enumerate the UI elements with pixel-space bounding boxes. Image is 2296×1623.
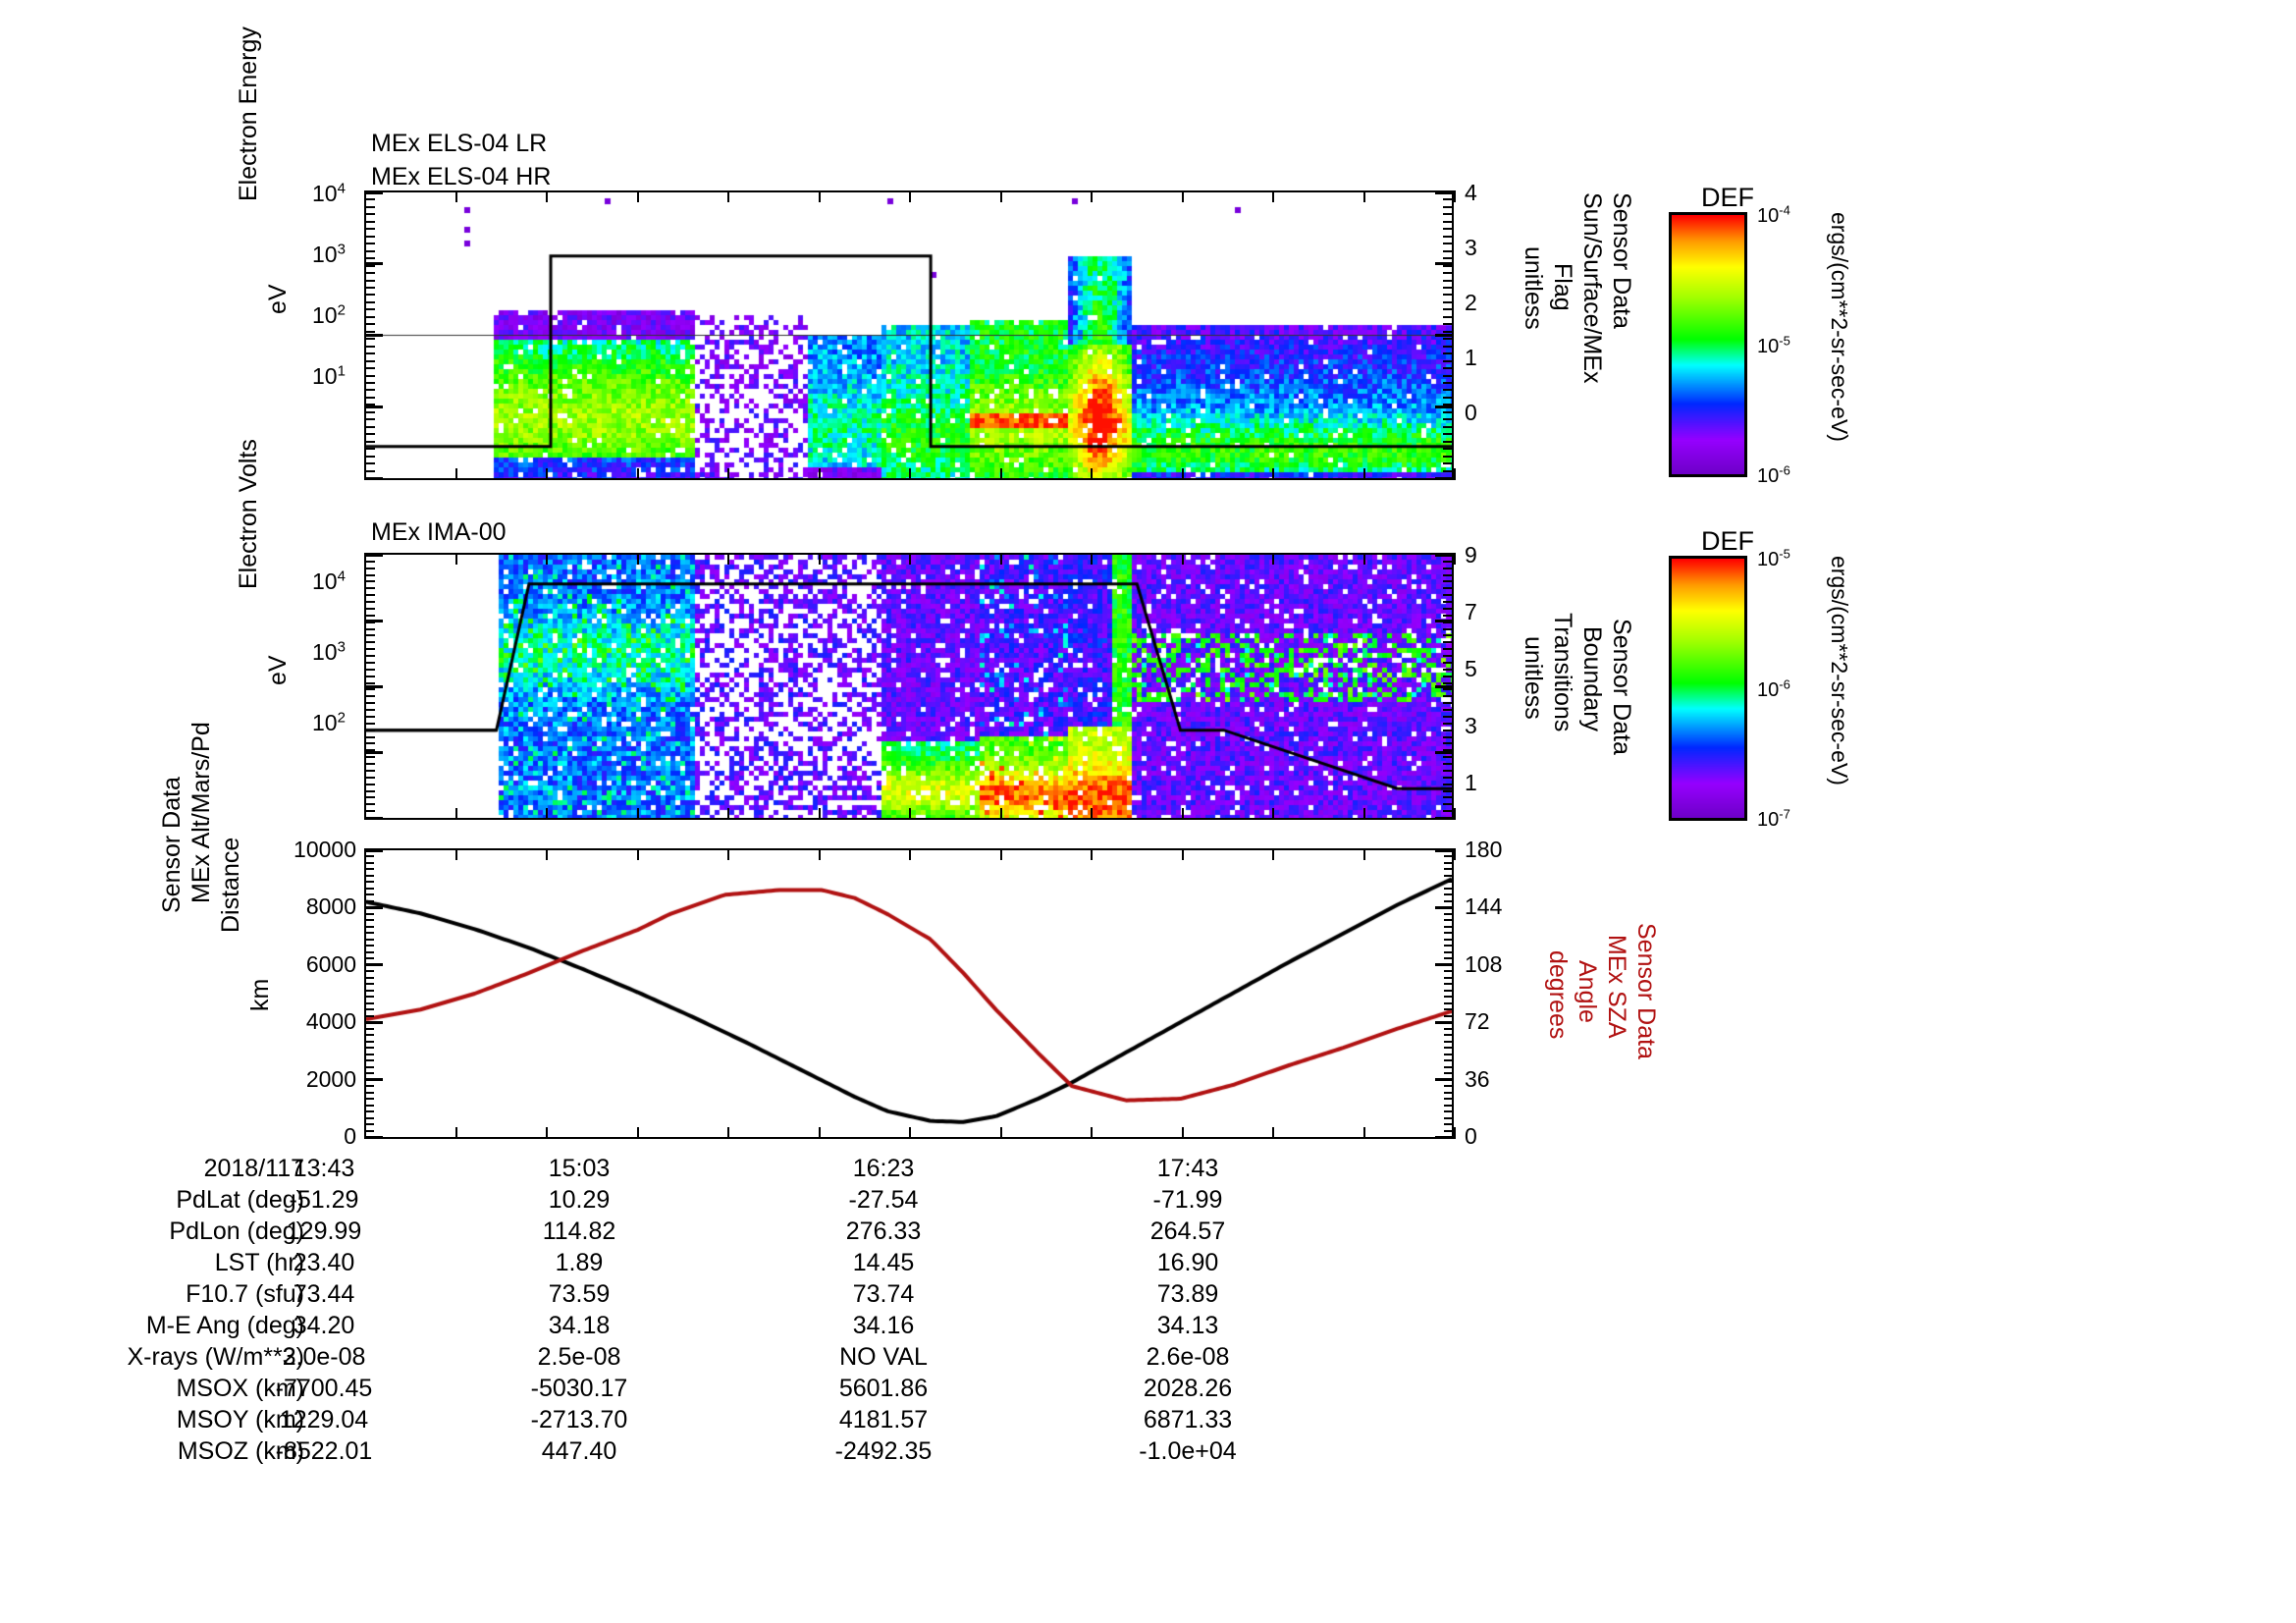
axis-minor-tick xyxy=(366,983,374,985)
panel3-rtick-180: 180 xyxy=(1465,837,1502,863)
axis-minor-tick xyxy=(366,784,375,785)
panel2-ylabel-line1: Electron Volts xyxy=(235,439,263,589)
info-row-value: 1229.04 xyxy=(236,1406,412,1434)
info-row-value: 73.59 xyxy=(491,1280,667,1309)
axis-tick xyxy=(727,808,729,820)
axis-minor-tick xyxy=(1444,1028,1452,1030)
info-row-value: 4181.57 xyxy=(795,1406,972,1434)
colorbar1-bot-label: 10-6 xyxy=(1757,462,1790,488)
axis-major-tick xyxy=(366,817,383,820)
info-row-value: 13:43 xyxy=(236,1155,412,1183)
colorbar2-mid-label: 10-6 xyxy=(1757,676,1790,702)
axis-tick xyxy=(1363,553,1365,565)
axis-minor-tick xyxy=(1443,810,1452,812)
panel2-rlabel-line2: Boundary xyxy=(1577,626,1606,731)
info-row-value: 10.29 xyxy=(491,1186,667,1215)
axis-major-tick xyxy=(366,963,383,966)
info-row-value: 23.40 xyxy=(236,1249,412,1277)
axis-minor-tick xyxy=(1443,574,1452,576)
panel2-rtick-1: 1 xyxy=(1465,770,1477,796)
axis-minor-tick xyxy=(1444,855,1452,857)
axis-minor-tick xyxy=(1444,1047,1452,1049)
info-row-value: 15:03 xyxy=(491,1155,667,1183)
axis-minor-tick xyxy=(1444,900,1452,902)
axis-tick xyxy=(819,1127,821,1139)
colorbar2-units-text: ergs/(cm**2-sr-sec-eV) xyxy=(1826,556,1852,785)
info-row-value: -71.99 xyxy=(1099,1186,1276,1215)
axis-tick xyxy=(455,468,457,480)
info-row-value: 34.20 xyxy=(236,1312,412,1340)
info-row-value: -8522.01 xyxy=(236,1437,412,1466)
panel2-right-label: Sensor Data Boundary Transitions unitles… xyxy=(1517,589,1634,864)
axis-minor-tick xyxy=(366,580,375,582)
panel1-rtick-3: 3 xyxy=(1465,235,1477,261)
axis-tick xyxy=(727,848,729,860)
axis-tick xyxy=(1454,553,1456,565)
panel3-rtick-36: 36 xyxy=(1465,1066,1490,1093)
info-row-value: -2492.35 xyxy=(795,1437,972,1466)
axis-minor-tick xyxy=(1443,580,1452,582)
axis-minor-tick xyxy=(366,411,375,413)
axis-minor-tick xyxy=(1444,1002,1452,1004)
axis-major-tick xyxy=(1435,963,1452,966)
info-row-value: -1.0e+04 xyxy=(1099,1437,1276,1466)
info-row-value: -2713.70 xyxy=(491,1406,667,1434)
axis-tick xyxy=(819,808,821,820)
panel3-ltick-4000: 4000 xyxy=(306,1008,356,1035)
axis-tick xyxy=(909,190,911,202)
axis-minor-tick xyxy=(366,301,375,303)
axis-minor-tick xyxy=(1443,198,1452,200)
axis-minor-tick xyxy=(366,594,375,596)
panel2-ylabel-line2: eV xyxy=(264,655,293,685)
axis-major-tick xyxy=(1435,1021,1452,1024)
axis-minor-tick xyxy=(1444,881,1452,883)
axis-minor-tick xyxy=(366,777,375,779)
axis-tick xyxy=(1000,553,1002,565)
axis-tick xyxy=(1182,848,1184,860)
axis-minor-tick xyxy=(366,926,374,928)
axis-minor-tick xyxy=(1443,367,1452,369)
panel1-ylabel-line2: eV xyxy=(264,284,293,314)
axis-minor-tick xyxy=(1443,688,1452,690)
info-row-value: 3.0e-08 xyxy=(236,1343,412,1372)
axis-minor-tick xyxy=(1443,272,1452,274)
axis-minor-tick xyxy=(1444,862,1452,864)
axis-minor-tick xyxy=(366,763,375,765)
axis-minor-tick xyxy=(366,426,375,428)
axis-minor-tick xyxy=(1443,228,1452,230)
panel3-lines xyxy=(366,850,1452,1137)
colorbar2-bot-label: 10-7 xyxy=(1757,806,1790,832)
axis-minor-tick xyxy=(1443,418,1452,420)
panel2-ytick-10e4: 104 xyxy=(312,568,346,595)
axis-tick xyxy=(1091,848,1093,860)
axis-minor-tick xyxy=(1443,662,1452,664)
axis-minor-tick xyxy=(366,418,375,420)
axis-minor-tick xyxy=(366,634,375,636)
axis-tick xyxy=(1091,553,1093,565)
axis-minor-tick xyxy=(1443,568,1452,569)
axis-minor-tick xyxy=(1444,1085,1452,1087)
axis-minor-tick xyxy=(1444,983,1452,985)
axis-minor-tick xyxy=(1443,456,1452,458)
axis-minor-tick xyxy=(366,561,375,563)
axis-minor-tick xyxy=(1443,338,1452,340)
axis-major-tick xyxy=(366,685,383,688)
axis-minor-tick xyxy=(366,221,375,223)
axis-tick xyxy=(1000,808,1002,820)
axis-minor-tick xyxy=(366,250,375,252)
colorbar2-gradient xyxy=(1672,559,1744,818)
info-row-value: 5601.86 xyxy=(795,1375,972,1403)
axis-minor-tick xyxy=(1443,669,1452,671)
axis-minor-tick xyxy=(1443,601,1452,603)
panel2-rtick-5: 5 xyxy=(1465,656,1477,682)
panel3-ylabel-line4: km xyxy=(246,979,275,1011)
axis-major-tick xyxy=(1435,262,1452,265)
info-row-value: 34.13 xyxy=(1099,1312,1276,1340)
panel1-ytick-10e2: 102 xyxy=(312,301,346,329)
axis-minor-tick xyxy=(1443,250,1452,252)
axis-tick xyxy=(1363,468,1365,480)
axis-tick xyxy=(727,468,729,480)
axis-minor-tick xyxy=(1443,723,1452,725)
axis-minor-tick xyxy=(366,919,374,921)
axis-tick xyxy=(637,1127,639,1139)
panel3-ltick-6000: 6000 xyxy=(306,951,356,978)
axis-minor-tick xyxy=(366,810,375,812)
panel1-ytick-10e4: 104 xyxy=(312,180,346,207)
panel3-ylabel-line1: Sensor Data xyxy=(158,777,187,913)
axis-minor-tick xyxy=(1444,932,1452,934)
panel2-plot[interactable] xyxy=(364,553,1454,820)
axis-minor-tick xyxy=(366,1117,374,1119)
axis-minor-tick xyxy=(366,648,375,650)
panel2-ytick-10e3: 103 xyxy=(312,638,346,666)
axis-major-tick xyxy=(1435,685,1452,688)
colorbar1-mid-label: 10-5 xyxy=(1757,333,1790,358)
axis-major-tick xyxy=(1435,1078,1452,1081)
info-row-value: -7700.45 xyxy=(236,1375,412,1403)
panel3-ltick-10000: 10000 xyxy=(294,837,356,863)
axis-minor-tick xyxy=(1443,716,1452,718)
axis-minor-tick xyxy=(366,375,375,377)
axis-minor-tick xyxy=(1443,375,1452,377)
axis-minor-tick xyxy=(1443,206,1452,208)
axis-minor-tick xyxy=(366,1098,374,1100)
axis-minor-tick xyxy=(366,709,375,711)
panel1-plot[interactable] xyxy=(364,190,1454,480)
axis-minor-tick xyxy=(1443,426,1452,428)
axis-minor-tick xyxy=(1443,770,1452,772)
axis-minor-tick xyxy=(1443,803,1452,805)
panel1-rtick-2: 2 xyxy=(1465,290,1477,316)
axis-minor-tick xyxy=(1444,1034,1452,1036)
axis-minor-tick xyxy=(1443,243,1452,244)
axis-minor-tick xyxy=(366,1123,374,1125)
axis-minor-tick xyxy=(1443,561,1452,563)
axis-minor-tick xyxy=(366,770,375,772)
info-row-value: 73.74 xyxy=(795,1280,972,1309)
axis-minor-tick xyxy=(366,360,375,362)
panel1-rlabel-line1: Sensor Data xyxy=(1607,192,1635,329)
axis-tick xyxy=(727,553,729,565)
axis-tick xyxy=(637,190,639,202)
axis-minor-tick xyxy=(366,662,375,664)
axis-minor-tick xyxy=(366,316,375,318)
axis-minor-tick xyxy=(366,287,375,289)
axis-minor-tick xyxy=(1444,939,1452,941)
axis-tick xyxy=(637,553,639,565)
axis-tick xyxy=(727,1127,729,1139)
axis-minor-tick xyxy=(1443,784,1452,785)
panel3-right-label: Sensor Data MEx SZA Angle degrees xyxy=(1541,913,1669,1188)
axis-minor-tick xyxy=(1443,308,1452,310)
axis-minor-tick xyxy=(1444,893,1452,895)
axis-minor-tick xyxy=(366,574,375,576)
axis-minor-tick xyxy=(366,441,375,443)
axis-tick xyxy=(909,808,911,820)
axis-minor-tick xyxy=(366,1072,374,1074)
info-row-value: 17:43 xyxy=(1099,1155,1276,1183)
axis-minor-tick xyxy=(1444,1105,1452,1107)
axis-tick xyxy=(1363,808,1365,820)
panel1-title-lr: MEx ELS-04 LR xyxy=(371,130,547,158)
axis-tick xyxy=(819,848,821,860)
axis-tick xyxy=(637,848,639,860)
axis-minor-tick xyxy=(1444,1072,1452,1074)
axis-minor-tick xyxy=(366,294,375,296)
axis-minor-tick xyxy=(366,1130,374,1132)
axis-minor-tick xyxy=(1443,790,1452,792)
axis-minor-tick xyxy=(1443,352,1452,354)
info-row-value: 2028.26 xyxy=(1099,1375,1276,1403)
axis-minor-tick xyxy=(1443,331,1452,333)
info-row-value: -27.54 xyxy=(795,1186,972,1215)
panel1-ytick-10e3: 103 xyxy=(312,241,346,268)
axis-tick xyxy=(909,553,911,565)
axis-minor-tick xyxy=(366,323,375,325)
info-row-value: 114.82 xyxy=(491,1217,667,1246)
axis-major-tick xyxy=(1435,906,1452,909)
axis-minor-tick xyxy=(366,601,375,603)
axis-tick xyxy=(819,468,821,480)
info-row-value: 6871.33 xyxy=(1099,1406,1276,1434)
axis-minor-tick xyxy=(366,970,374,972)
axis-minor-tick xyxy=(1444,1008,1452,1010)
panel2-rtick-9: 9 xyxy=(1465,542,1477,568)
axis-minor-tick xyxy=(1443,777,1452,779)
axis-minor-tick xyxy=(1444,990,1452,992)
axis-tick xyxy=(1000,1127,1002,1139)
axis-minor-tick xyxy=(366,742,375,744)
axis-minor-tick xyxy=(1444,868,1452,870)
axis-tick xyxy=(1091,808,1093,820)
axis-tick xyxy=(1091,190,1093,202)
axis-major-tick xyxy=(366,406,383,408)
axis-minor-tick xyxy=(1443,397,1452,399)
axis-major-tick xyxy=(1435,334,1452,337)
axis-minor-tick xyxy=(366,939,374,941)
axis-minor-tick xyxy=(1444,919,1452,921)
panel2-rlabel-line1: Sensor Data xyxy=(1607,619,1635,755)
panel2-rtick-7: 7 xyxy=(1465,599,1477,625)
axis-minor-tick xyxy=(1443,411,1452,413)
axis-minor-tick xyxy=(1444,913,1452,915)
panel2-rlabel-line3: Transitions xyxy=(1548,613,1576,731)
info-row-value: 73.89 xyxy=(1099,1280,1276,1309)
panel3-ylabel-line2: MEx Alt/Mars/Pd xyxy=(187,722,216,903)
axis-minor-tick xyxy=(1444,926,1452,928)
panel3-ltick-8000: 8000 xyxy=(306,893,356,920)
axis-tick xyxy=(455,1127,457,1139)
axis-major-tick xyxy=(1435,849,1452,852)
info-row-value: 129.99 xyxy=(236,1217,412,1246)
axis-minor-tick xyxy=(366,756,375,758)
axis-minor-tick xyxy=(366,1008,374,1010)
axis-minor-tick xyxy=(366,236,375,238)
axis-minor-tick xyxy=(1443,257,1452,259)
axis-tick xyxy=(1091,468,1093,480)
axis-minor-tick xyxy=(366,448,375,450)
axis-minor-tick xyxy=(366,331,375,333)
axis-minor-tick xyxy=(1443,742,1452,744)
axis-tick xyxy=(1182,1127,1184,1139)
axis-major-tick xyxy=(366,906,383,909)
axis-minor-tick xyxy=(366,1054,374,1055)
axis-minor-tick xyxy=(1443,433,1452,435)
axis-major-tick xyxy=(366,1136,383,1139)
axis-minor-tick xyxy=(1444,977,1452,979)
axis-minor-tick xyxy=(366,433,375,435)
axis-minor-tick xyxy=(1443,294,1452,296)
panel3-rtick-72: 72 xyxy=(1465,1008,1490,1035)
axis-minor-tick xyxy=(366,308,375,310)
axis-minor-tick xyxy=(1444,970,1452,972)
axis-tick xyxy=(909,1127,911,1139)
axis-tick xyxy=(1454,848,1456,860)
axis-minor-tick xyxy=(1443,470,1452,472)
axis-minor-tick xyxy=(366,272,375,274)
axis-minor-tick xyxy=(366,470,375,472)
axis-minor-tick xyxy=(366,198,375,200)
axis-tick xyxy=(546,468,548,480)
panel3-rtick-0: 0 xyxy=(1465,1123,1477,1150)
panel3-ylabel: Sensor Data MEx Alt/Mars/Pd Distance km xyxy=(187,903,314,1178)
axis-tick xyxy=(546,553,548,565)
axis-minor-tick xyxy=(366,803,375,805)
panel3-rlabel-line2: MEx SZA xyxy=(1602,935,1630,1039)
axis-minor-tick xyxy=(366,945,374,947)
axis-minor-tick xyxy=(1443,796,1452,798)
info-row-value: NO VAL xyxy=(795,1343,972,1372)
colorbar2-top-label: 10-5 xyxy=(1757,546,1790,571)
axis-major-tick xyxy=(1435,817,1452,820)
axis-major-tick xyxy=(366,334,383,337)
axis-major-tick xyxy=(1435,477,1452,480)
axis-tick xyxy=(1363,848,1365,860)
axis-minor-tick xyxy=(366,868,374,870)
panel3-plot[interactable] xyxy=(364,848,1454,1139)
info-row-value: -5030.17 xyxy=(491,1375,667,1403)
axis-tick xyxy=(1272,848,1274,860)
axis-minor-tick xyxy=(366,608,375,610)
axis-minor-tick xyxy=(1443,360,1452,362)
axis-minor-tick xyxy=(366,951,374,953)
axis-tick xyxy=(727,190,729,202)
axis-minor-tick xyxy=(366,913,374,915)
axis-tick xyxy=(1182,468,1184,480)
colorbar2 xyxy=(1669,556,1747,821)
axis-major-tick xyxy=(366,1078,383,1081)
axis-tick xyxy=(546,808,548,820)
panel3-ylabel-line3: Distance xyxy=(217,838,245,933)
axis-minor-tick xyxy=(366,893,374,895)
axis-minor-tick xyxy=(366,655,375,657)
panel1-ytick-10e1: 101 xyxy=(312,362,346,390)
axis-minor-tick xyxy=(366,796,375,798)
axis-minor-tick xyxy=(366,397,375,399)
axis-minor-tick xyxy=(1443,615,1452,617)
info-row-value: 34.18 xyxy=(491,1312,667,1340)
axis-minor-tick xyxy=(1444,1015,1452,1017)
axis-minor-tick xyxy=(1443,648,1452,650)
panel2-ytick-10e2: 102 xyxy=(312,709,346,736)
axis-minor-tick xyxy=(1444,888,1452,890)
axis-minor-tick xyxy=(366,676,375,677)
axis-minor-tick xyxy=(366,206,375,208)
axis-minor-tick xyxy=(366,1092,374,1094)
axis-tick xyxy=(637,468,639,480)
axis-minor-tick xyxy=(1443,763,1452,765)
axis-minor-tick xyxy=(366,862,374,864)
axis-minor-tick xyxy=(1444,1059,1452,1061)
axis-minor-tick xyxy=(366,888,374,890)
axis-major-tick xyxy=(1435,1136,1452,1139)
axis-tick xyxy=(1182,808,1184,820)
axis-tick xyxy=(455,553,457,565)
axis-minor-tick xyxy=(1443,702,1452,704)
axis-minor-tick xyxy=(366,1105,374,1107)
axis-minor-tick xyxy=(366,587,375,589)
panel1-rlabel-line2: Sun/Surface/MEx xyxy=(1577,192,1606,384)
colorbar1-units-text: ergs/(cm**2-sr-sec-eV) xyxy=(1826,212,1852,442)
axis-minor-tick xyxy=(1443,301,1452,303)
axis-tick xyxy=(546,190,548,202)
axis-minor-tick xyxy=(1443,236,1452,238)
axis-minor-tick xyxy=(366,1059,374,1061)
axis-minor-tick xyxy=(366,641,375,643)
axis-minor-tick xyxy=(1443,389,1452,391)
axis-tick xyxy=(455,808,457,820)
info-row-value: 264.57 xyxy=(1099,1217,1276,1246)
axis-major-tick xyxy=(1435,554,1452,557)
axis-minor-tick xyxy=(1444,951,1452,953)
info-row-value: 16.90 xyxy=(1099,1249,1276,1277)
axis-tick xyxy=(1000,848,1002,860)
axis-minor-tick xyxy=(366,243,375,244)
info-row-value: 2.5e-08 xyxy=(491,1343,667,1372)
axis-major-tick xyxy=(1435,620,1452,622)
axis-minor-tick xyxy=(366,669,375,671)
axis-minor-tick xyxy=(1443,221,1452,223)
axis-minor-tick xyxy=(366,682,375,684)
axis-minor-tick xyxy=(1443,736,1452,738)
panel1-rlabel-line3: Flag xyxy=(1548,263,1576,311)
colorbar1-top-label: 10-4 xyxy=(1757,202,1790,228)
axis-minor-tick xyxy=(366,957,374,959)
